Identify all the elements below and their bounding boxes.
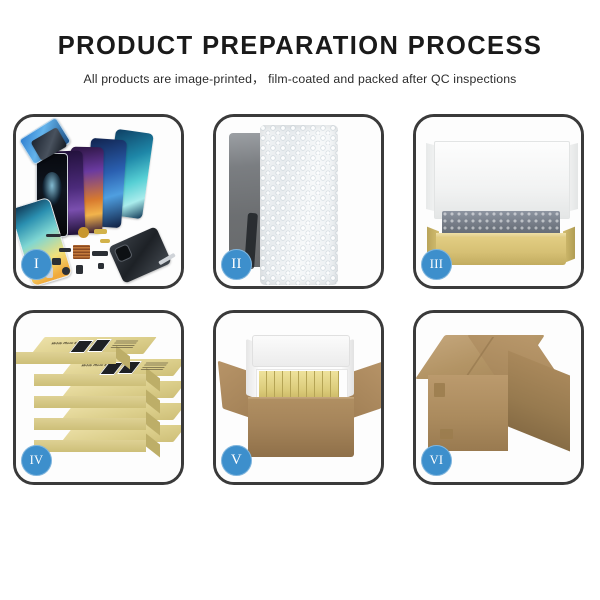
- page-title: PRODUCT PREPARATION PROCESS: [0, 32, 600, 60]
- box-white-lid: [434, 141, 570, 219]
- step-badge-2: II: [221, 249, 252, 280]
- connector-part-2: [52, 258, 61, 265]
- step-cell-1: I: [0, 107, 200, 303]
- carton-right-side: [508, 350, 570, 451]
- header: PRODUCT PREPARATION PROCESS All products…: [0, 0, 600, 87]
- box-stack: Mobile Phone Spare Parts Mobile Phone Sp…: [24, 329, 180, 469]
- phone-rear-housing: [108, 226, 172, 284]
- carton-body: [248, 399, 354, 457]
- flex-cable-part-1: [46, 234, 61, 237]
- connector-part-1: [59, 248, 71, 252]
- step-cell-4: Mobile Phone Spare Parts Mobile Phone Sp…: [0, 303, 200, 499]
- step-cell-5: V: [200, 303, 400, 499]
- box-front-face: [34, 418, 146, 430]
- step-panel-4: Mobile Phone Spare Parts Mobile Phone Sp…: [13, 310, 184, 485]
- speaker-ring-part: [78, 227, 89, 238]
- step-badge-5: V: [221, 445, 252, 476]
- step-cell-2: II: [200, 107, 400, 303]
- camera-lens-part: [62, 267, 70, 275]
- box-front-face: [16, 352, 116, 364]
- infographic-root: PRODUCT PREPARATION PROCESS All products…: [0, 0, 600, 600]
- mesh-pad-part: [73, 245, 90, 259]
- step-panel-6: VI: [413, 310, 584, 485]
- page-subtitle: All products are image-printed， film-coa…: [0, 69, 600, 87]
- bubble-wrap-bag: [260, 125, 338, 285]
- stacked-box-1: Mobile Phone Spare Parts: [38, 337, 150, 363]
- carton-tape-upper: [434, 383, 445, 397]
- flex-cable-part-4: [92, 251, 108, 256]
- foam-liner-back: [252, 335, 350, 367]
- step-badge-6: VI: [421, 445, 452, 476]
- step-panel-1: I: [13, 114, 184, 289]
- step-cell-6: VI: [400, 303, 600, 499]
- flex-cable-part-3: [100, 239, 110, 243]
- box-front-face: [34, 396, 146, 408]
- process-steps-grid: I II: [0, 107, 600, 499]
- box-front-face: [34, 440, 146, 452]
- step-panel-3: III: [413, 114, 584, 289]
- carton-tape-lower: [440, 429, 453, 439]
- flex-cable-part-2: [94, 229, 107, 234]
- button-part: [98, 263, 104, 269]
- box-front-face: [34, 374, 146, 386]
- box-front-kraft: [436, 237, 566, 265]
- step-panel-2: II: [213, 114, 384, 289]
- step-cell-3: III: [400, 107, 600, 303]
- step-badge-4: IV: [21, 445, 52, 476]
- vibrator-part: [76, 265, 83, 274]
- step-badge-3: III: [421, 249, 452, 280]
- step-panel-5: V: [213, 310, 384, 485]
- step-badge-1: I: [21, 249, 52, 280]
